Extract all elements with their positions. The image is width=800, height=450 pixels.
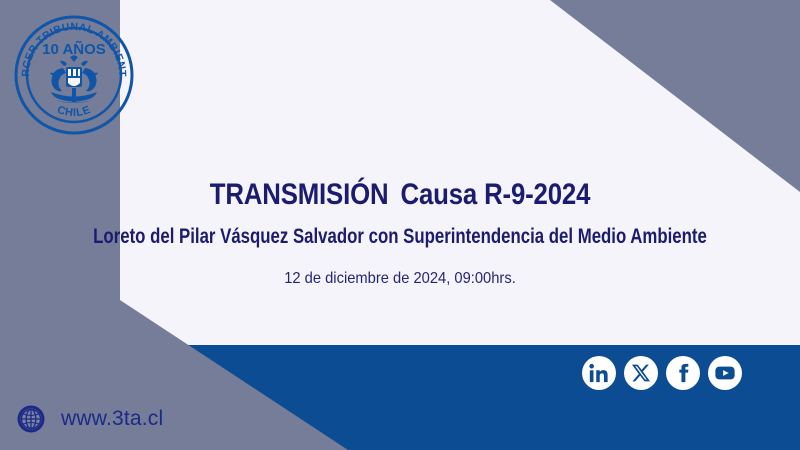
- headline-prefix: TRANSMISIÓN: [210, 178, 389, 211]
- linkedin-icon[interactable]: [582, 356, 616, 390]
- website-block[interactable]: www.3ta.cl: [16, 404, 163, 434]
- broadcast-title-card: TERCER TRIBUNAL AMBIENTAL CHILE 10 AÑOS: [0, 0, 800, 450]
- x-twitter-icon[interactable]: [624, 356, 658, 390]
- facebook-icon[interactable]: [666, 356, 700, 390]
- website-url-label[interactable]: www.3ta.cl: [61, 407, 163, 431]
- hearing-datetime: 12 de diciembre de 2024, 09:00hrs.: [32, 271, 768, 287]
- social-links-row: [582, 356, 742, 390]
- globe-icon: [16, 404, 46, 434]
- coat-of-arms-emblem: [50, 55, 98, 103]
- headline-case-number: Causa R-9-2024: [400, 178, 590, 211]
- case-parties-subtitle: Loreto del Pilar Vásquez Salvador con Su…: [80, 226, 720, 247]
- headline: TRANSMISIÓNCausa R-9-2024: [56, 180, 744, 210]
- youtube-icon[interactable]: [708, 356, 742, 390]
- seal-bottom-text: CHILE: [56, 104, 93, 119]
- tribunal-seal-logo: TERCER TRIBUNAL AMBIENTAL CHILE 10 AÑOS: [11, 12, 137, 138]
- title-text-block: TRANSMISIÓNCausa R-9-2024 Loreto del Pil…: [0, 180, 800, 287]
